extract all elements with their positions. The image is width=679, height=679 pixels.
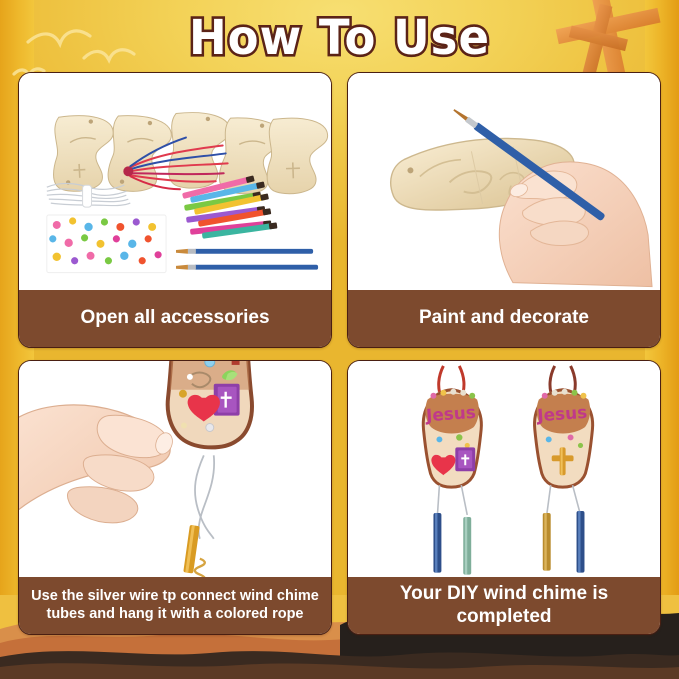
svg-text:Jesus: Jesus [536,401,588,424]
step-card-4: Jesus [347,360,661,636]
page-title: How To Use [189,9,490,65]
finished-wind-chimes-photo: Jesus [348,361,660,578]
step-card-3: Use the silver wire tp connect wind chim… [18,360,332,636]
craft-kit-accessories-photo [19,73,331,290]
steps-grid: Open all accessories [18,72,661,635]
step-caption-4: Your DIY wind chime is completed [348,577,660,634]
svg-text:Jesus: Jesus [424,401,476,424]
step-caption-1: Open all accessories [19,290,331,347]
step-caption-2: Paint and decorate [348,290,660,347]
step-card-2: Paint and decorate [347,72,661,348]
connect-wire-photo [19,361,331,578]
step-card-1: Open all accessories [18,72,332,348]
poster-canvas: How To Use [0,0,679,679]
page-title-container: How To Use [0,8,679,66]
step-caption-3: Use the silver wire tp connect wind chim… [19,577,331,634]
painting-plaque-photo [348,73,660,290]
